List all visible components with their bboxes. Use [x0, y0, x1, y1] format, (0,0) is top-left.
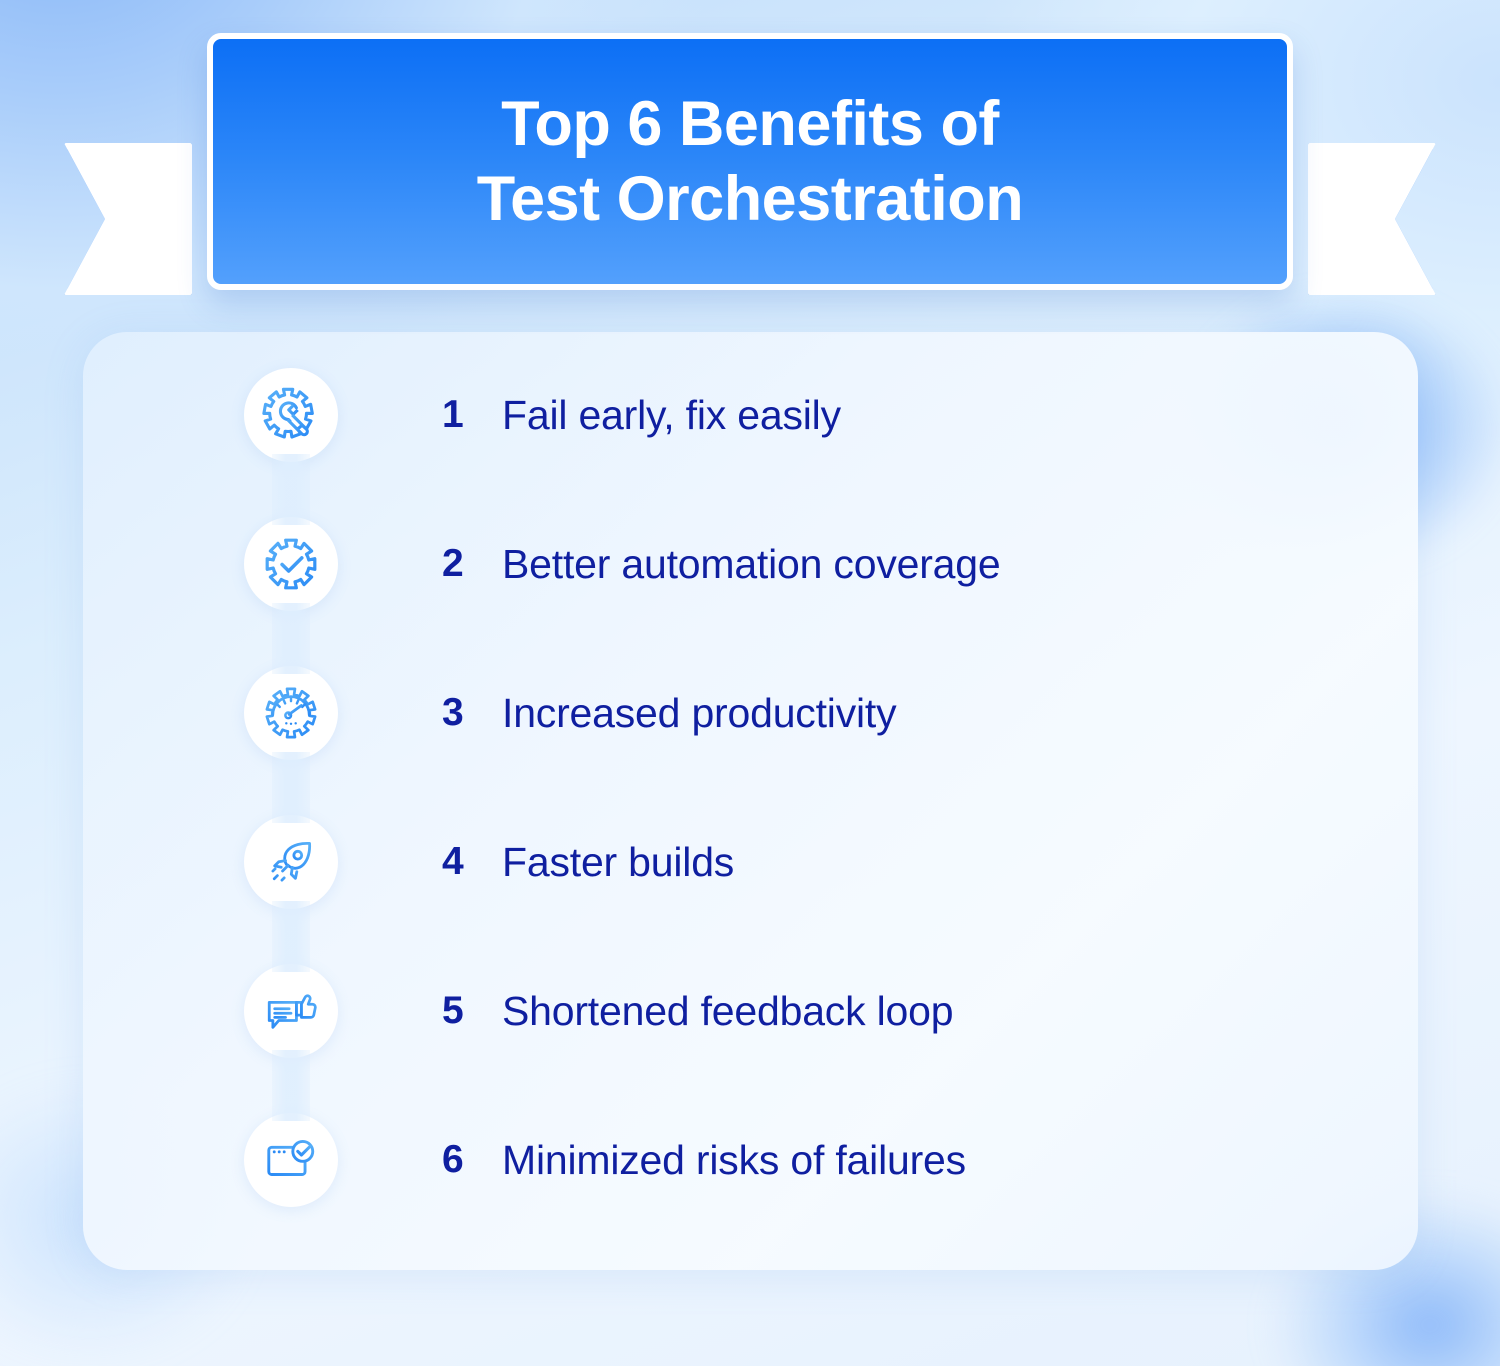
- list-connector: [272, 1050, 310, 1121]
- list-item[interactable]: 2Better automation coverage: [244, 517, 1001, 611]
- list-item-number: 1: [442, 393, 502, 437]
- browser-check-icon: [244, 1113, 338, 1207]
- list-connector: [272, 901, 310, 972]
- list-item-label: Minimized risks of failures: [502, 1137, 966, 1184]
- list-item-label: Increased productivity: [502, 690, 896, 737]
- list-item-number: 4: [442, 840, 502, 884]
- list-connector: [272, 454, 310, 525]
- list-item-label: Better automation coverage: [502, 541, 1001, 588]
- list-item-number: 6: [442, 1138, 502, 1182]
- list-item[interactable]: 5Shortened feedback loop: [244, 964, 953, 1058]
- list-item-label: Faster builds: [502, 839, 734, 886]
- list-item-number: 5: [442, 989, 502, 1033]
- list-connector: [272, 752, 310, 823]
- list-item-number: 2: [442, 542, 502, 586]
- list-item-number: 3: [442, 691, 502, 735]
- list-item-label: Shortened feedback loop: [502, 988, 953, 1035]
- gear-speedometer-icon: [244, 666, 338, 760]
- gear-wrench-icon: [244, 368, 338, 462]
- rocket-icon: [244, 815, 338, 909]
- benefits-list: 1Fail early, fix easily 2Better automati…: [0, 0, 1500, 1366]
- list-item[interactable]: 3Increased productivity: [244, 666, 896, 760]
- list-item[interactable]: 1Fail early, fix easily: [244, 368, 841, 462]
- list-connector: [272, 603, 310, 674]
- gear-check-icon: [244, 517, 338, 611]
- list-item-label: Fail early, fix easily: [502, 392, 841, 439]
- list-item[interactable]: 4Faster builds: [244, 815, 734, 909]
- infographic-canvas: Top 6 Benefits of Test Orchestration 1Fa…: [0, 0, 1500, 1366]
- chat-thumbs-up-icon: [244, 964, 338, 1058]
- list-item[interactable]: 6Minimized risks of failures: [244, 1113, 966, 1207]
